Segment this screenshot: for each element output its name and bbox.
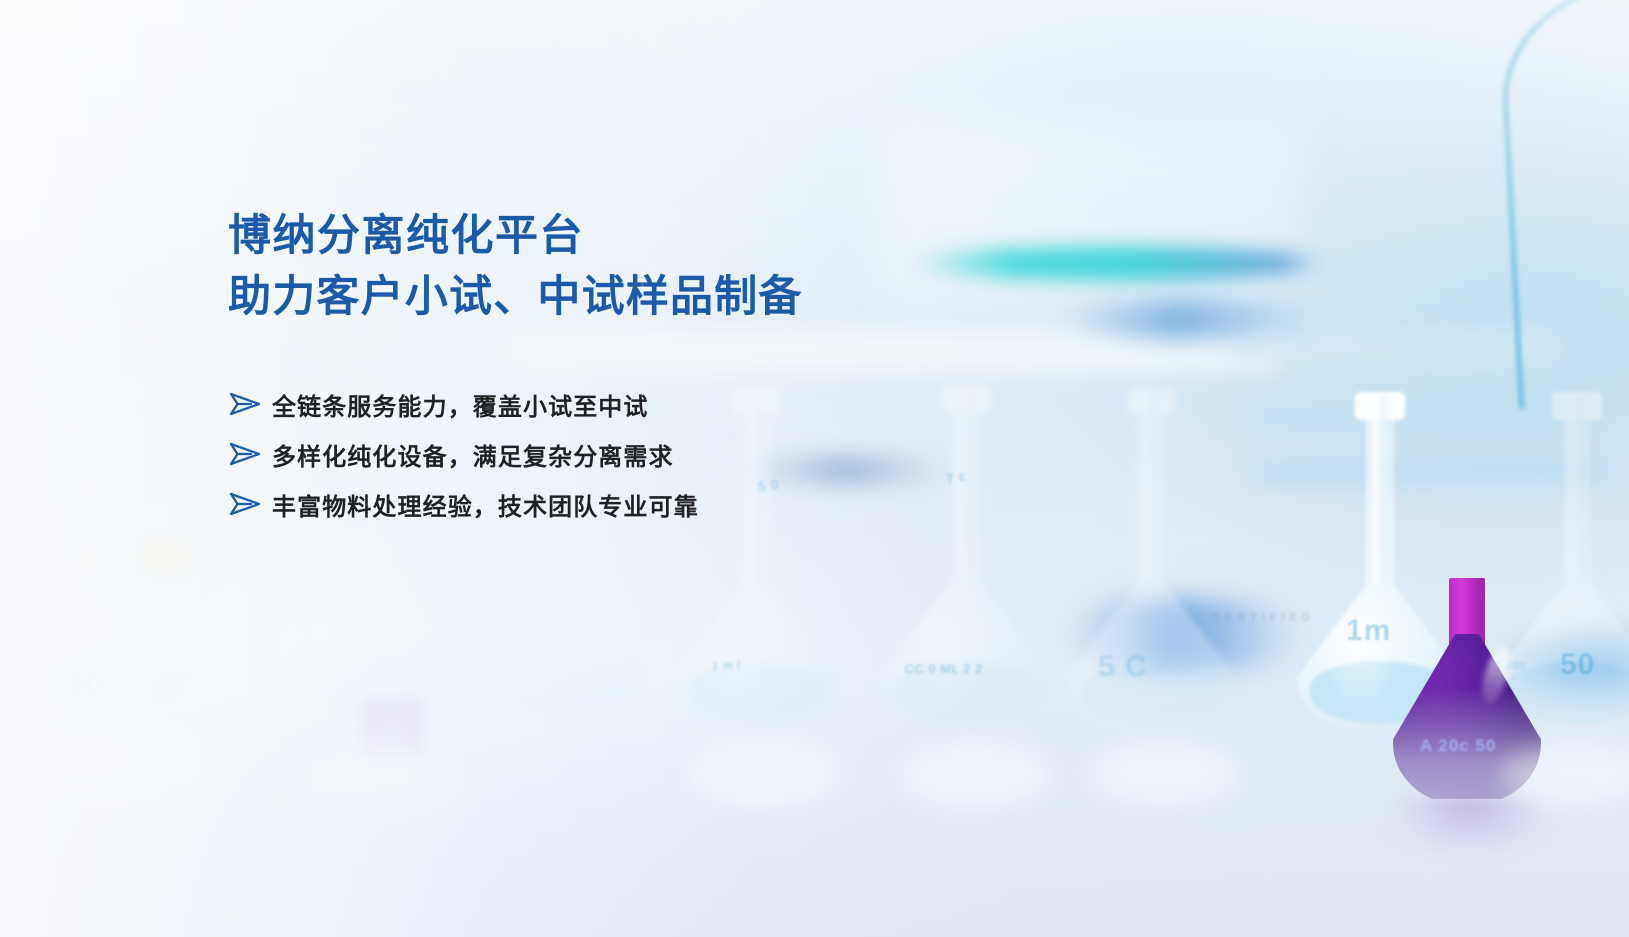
arrow-right-outline-icon bbox=[228, 440, 272, 468]
list-item: 多样化纯化设备，满足复杂分离需求 bbox=[228, 430, 1048, 478]
headline-line-2: 助力客户小试、中试样品制备 bbox=[228, 267, 1048, 328]
arrow-right-outline-icon bbox=[228, 490, 272, 518]
headline-line-1: 博纳分离纯化平台 bbox=[228, 206, 1048, 267]
page-title: 博纳分离纯化平台 助力客户小试、中试样品制备 bbox=[228, 206, 1048, 328]
list-item-label: 多样化纯化设备，满足复杂分离需求 bbox=[272, 437, 674, 472]
hero-banner: 50 5 0 1 m l 7 c CC 0 ML 2 2 bbox=[0, 0, 1629, 937]
hero-content: 博纳分离纯化平台 助力客户小试、中试样品制备 全链条服务能力，覆盖小试至中试 bbox=[228, 206, 1048, 530]
list-item-label: 全链条服务能力，覆盖小试至中试 bbox=[272, 387, 649, 422]
list-item-label: 丰富物料处理经验，技术团队专业可靠 bbox=[272, 487, 699, 522]
arrow-right-outline-icon bbox=[228, 390, 272, 418]
list-item: 丰富物料处理经验，技术团队专业可靠 bbox=[228, 480, 1048, 528]
feature-list: 全链条服务能力，覆盖小试至中试 多样化纯化设备，满足复杂分离需求 bbox=[228, 380, 1048, 528]
list-item: 全链条服务能力，覆盖小试至中试 bbox=[228, 380, 1048, 428]
